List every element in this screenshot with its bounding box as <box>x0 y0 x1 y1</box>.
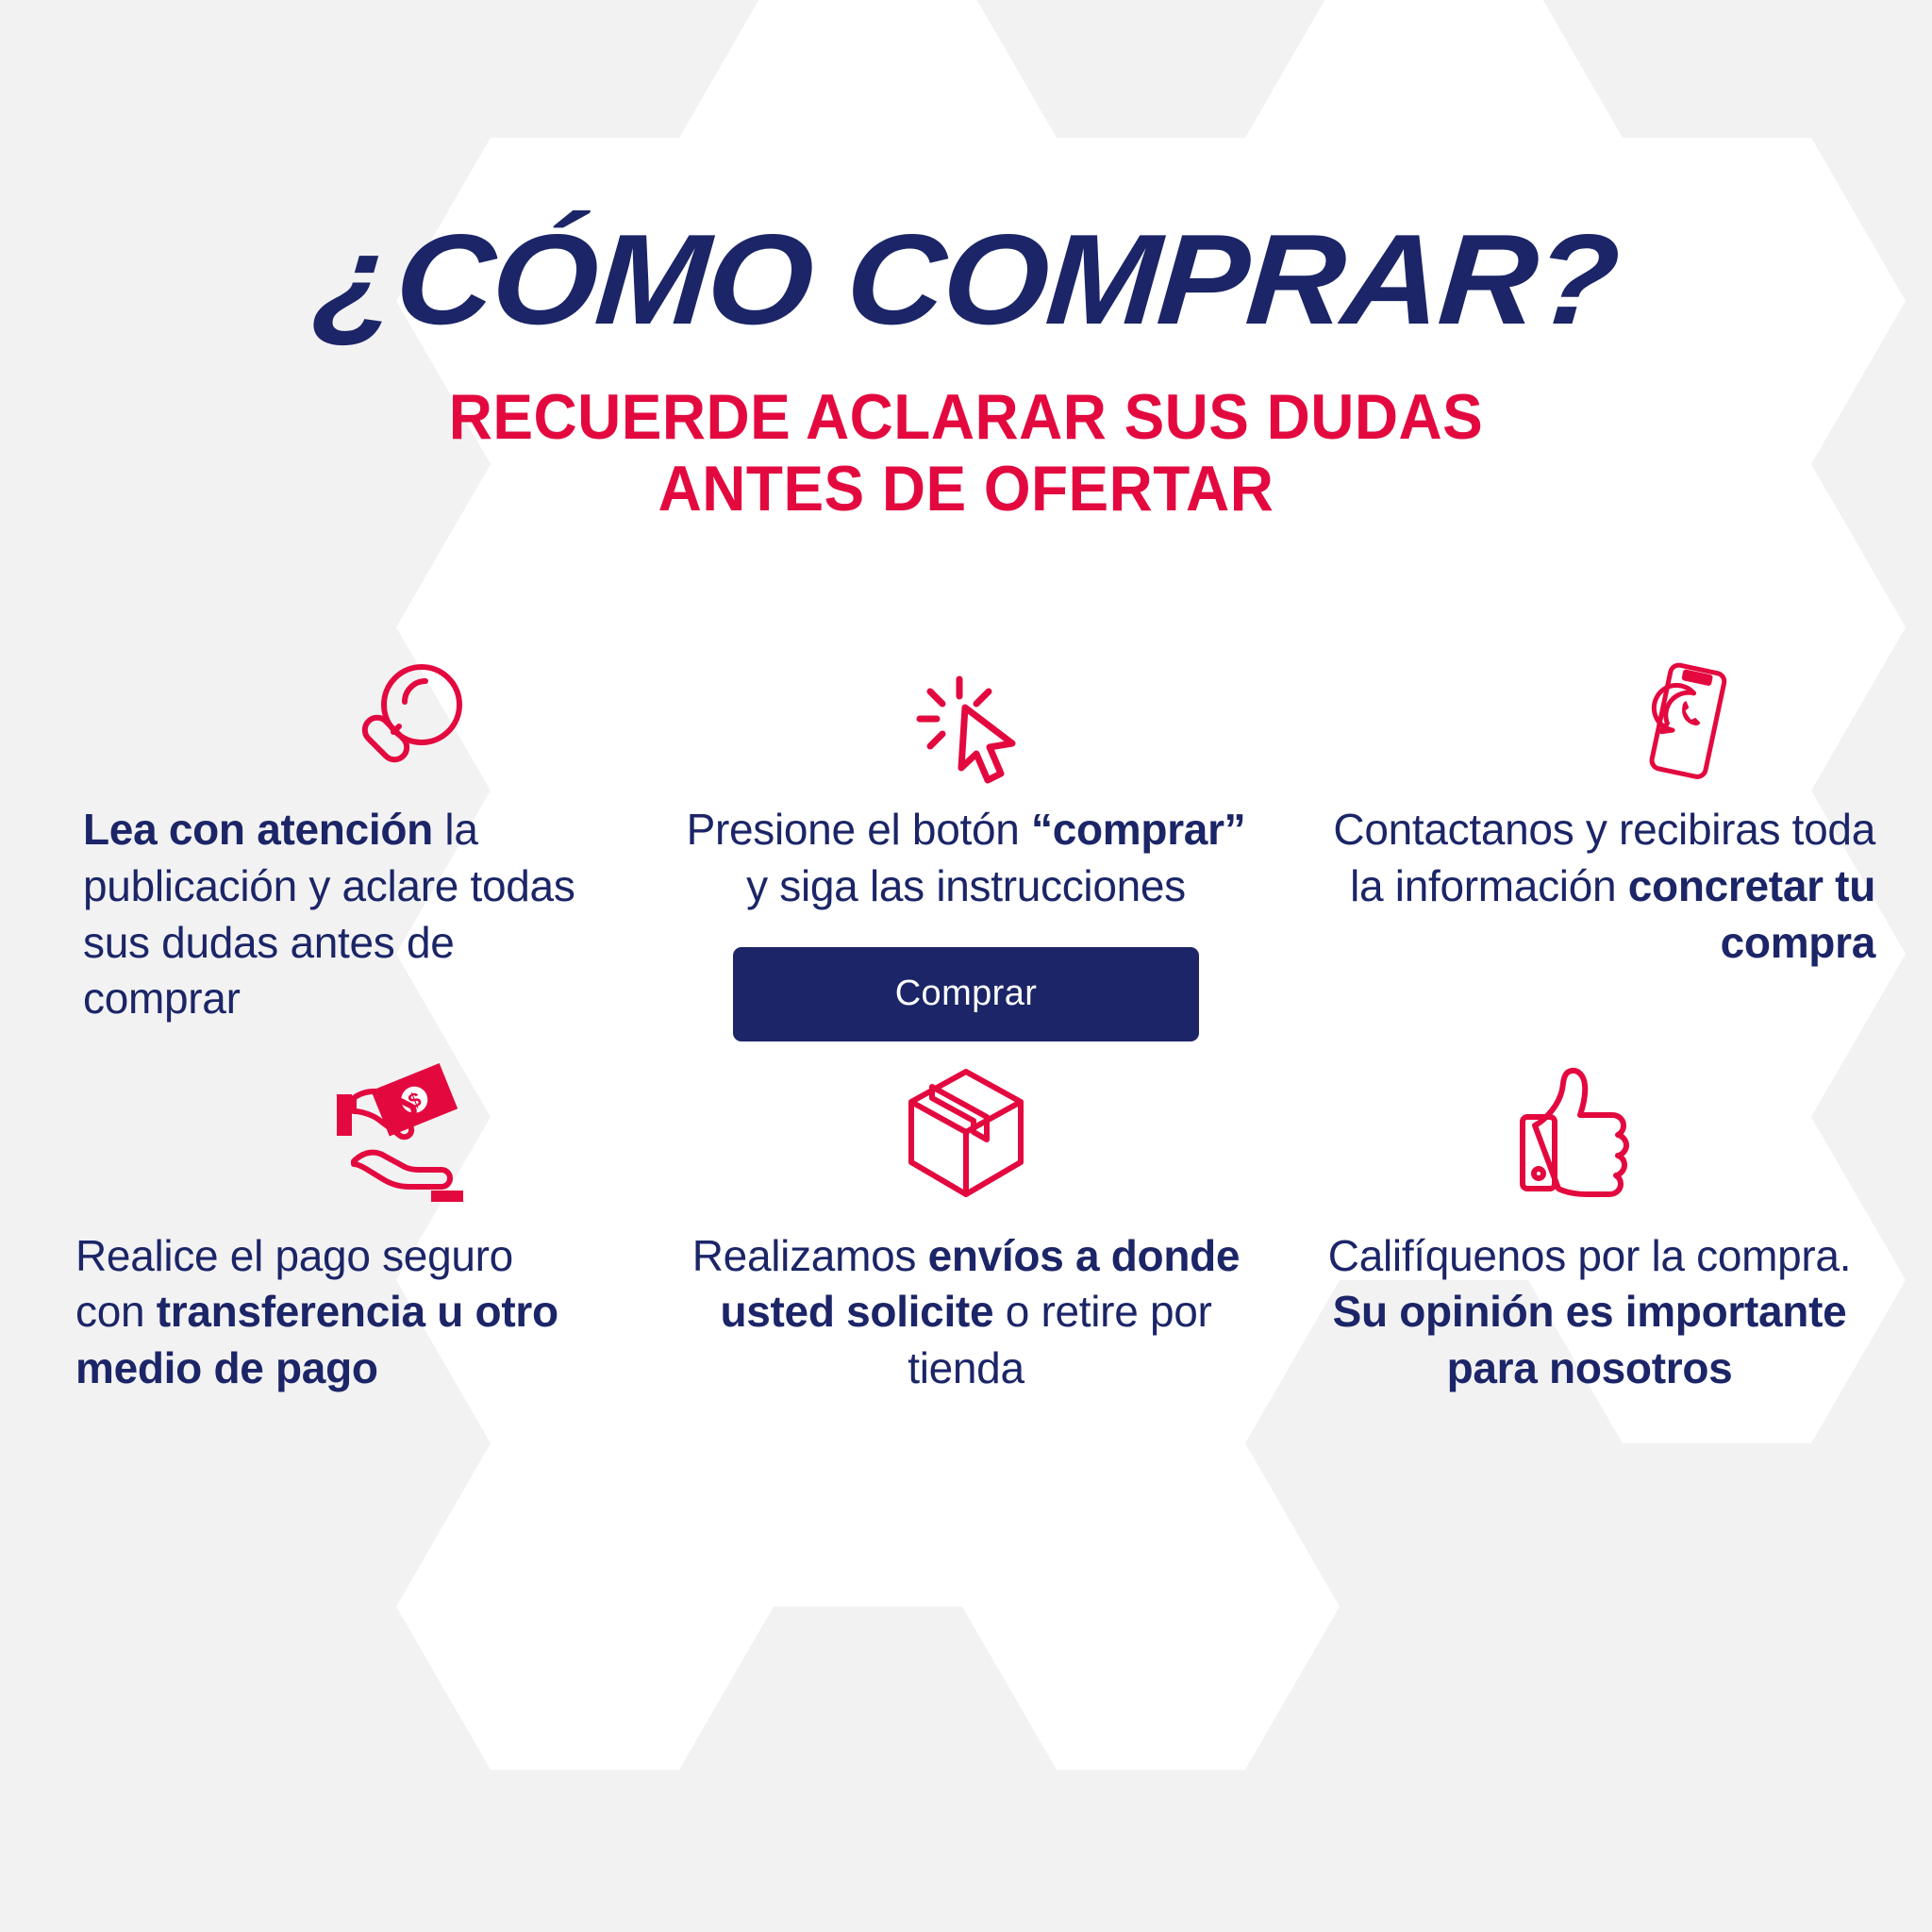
step-text-bold: Su opinión es importante para nosotros <box>1333 1287 1847 1392</box>
page-subtitle: RECUERDE ACLARAR SUS DUDAS ANTES DE OFER… <box>58 381 1874 525</box>
subtitle-line-1: RECUERDE ACLARAR SUS DUDAS <box>58 381 1874 453</box>
comprar-button[interactable]: Comprar <box>733 947 1199 1041</box>
steps-grid: Lea con atención la publicación y aclare… <box>38 660 1894 1397</box>
header-block: ¿CÓMO COMPRAR? RECUERDE ACLARAR SUS DUDA… <box>0 215 1932 525</box>
step-card-text: Presione el botón “comprar” y siga las i… <box>675 802 1257 915</box>
cash-in-hand-icon: $ <box>325 1062 476 1204</box>
step-card-shipping: Realizamos envíos a donde usted solicite… <box>657 1062 1275 1397</box>
step-card-text: Contactanos y recibiras toda la informac… <box>1332 802 1875 971</box>
step-card-text: Lea con atención la publicación y aclare… <box>83 802 600 1027</box>
package-box-icon <box>900 1062 1032 1204</box>
thumbs-up-icon <box>1513 1062 1636 1204</box>
step-text-part1: Realizamos <box>692 1231 928 1280</box>
step-card-read-carefully: Lea con atención la publicación y aclare… <box>38 660 657 1041</box>
step-text-part2: y siga las instrucciones <box>746 861 1186 910</box>
step-text-bold: concretar tu compra <box>1628 861 1875 967</box>
step-card-text: Califíquenos por la compra. Su opinión e… <box>1313 1228 1866 1397</box>
step-card-press-buy-button: Presione el botón “comprar” y siga las i… <box>657 660 1275 1041</box>
subtitle-line-2: ANTES DE OFERTAR <box>58 453 1874 525</box>
whatsapp-phone-icon <box>1630 660 1743 785</box>
magnifier-icon <box>346 660 469 785</box>
step-card-text: Realizamos envíos a donde usted solicite… <box>670 1228 1262 1397</box>
step-card-contact-us: Contactanos y recibiras toda la informac… <box>1275 660 1894 1041</box>
page-title: ¿CÓMO COMPRAR? <box>0 215 1932 343</box>
step-card-rate-us: Califíquenos por la compra. Su opinión e… <box>1275 1062 1894 1397</box>
step-text-part1: Presione el botón <box>687 805 1031 854</box>
infographic-canvas: ¿CÓMO COMPRAR? RECUERDE ACLARAR SUS DUDA… <box>0 0 1932 1932</box>
step-text-part1: Califíquenos por la compra. <box>1328 1231 1851 1280</box>
step-text-bold: “comprar” <box>1031 805 1245 854</box>
step-card-text: Realice el pago seguro con transferencia… <box>75 1228 572 1397</box>
click-cursor-icon <box>910 660 1022 785</box>
step-text-bold: Lea con atención <box>83 805 433 854</box>
step-card-secure-payment: $ Realice el pago seguro con transferenc… <box>38 1062 657 1397</box>
